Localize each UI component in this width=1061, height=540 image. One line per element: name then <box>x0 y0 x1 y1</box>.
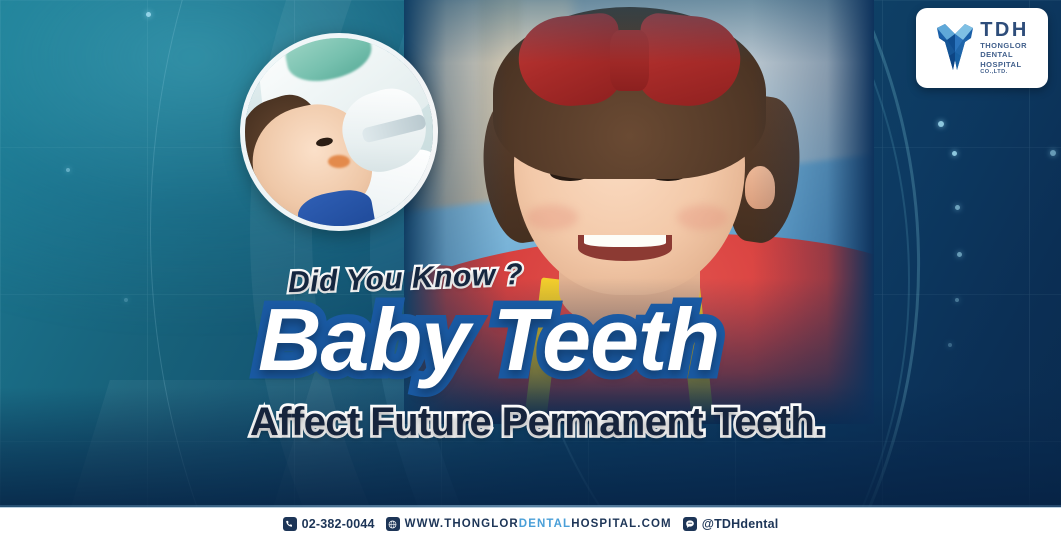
website-url: WWW.THONGLORDENTALHOSPITAL.COM <box>405 518 672 530</box>
background-dot <box>938 121 944 127</box>
footer-phone[interactable]: 02-382-0044 <box>283 517 375 531</box>
baby-dental-exam-photo <box>240 33 438 231</box>
footer-line-id[interactable]: @TDHdental <box>683 517 779 531</box>
poster-canvas: Did You Know ? Baby Teeth Affect Future … <box>0 0 1061 540</box>
logo-line-hospital: HOSPITAL <box>980 61 1029 69</box>
page-title: Baby Teeth <box>258 294 719 386</box>
background-dot <box>146 12 151 17</box>
line-id-label: @TDHdental <box>702 517 779 531</box>
background-dot <box>948 343 952 347</box>
background-dot <box>955 205 960 210</box>
line-chat-icon <box>683 517 697 531</box>
website-prefix: WWW.THONGLOR <box>405 518 519 530</box>
inset-baby-mouth <box>328 155 351 168</box>
globe-icon <box>386 517 400 531</box>
tdh-logo[interactable]: TDH THONGLOR DENTAL HOSPITAL CO.,LTD. <box>916 8 1048 88</box>
logo-line-coltd: CO.,LTD. <box>980 70 1029 76</box>
website-suffix: HOSPITAL.COM <box>571 518 672 530</box>
logo-text: TDH THONGLOR DENTAL HOSPITAL CO.,LTD. <box>980 20 1029 76</box>
subtitle-text: Affect Future Permanent Teeth. <box>250 400 825 445</box>
phone-number: 02-382-0044 <box>302 517 375 531</box>
logo-line-thonglor: THONGLOR <box>980 42 1029 50</box>
background-dot <box>66 168 70 172</box>
background-dot <box>957 252 962 257</box>
logo-line-dental: DENTAL <box>980 51 1029 59</box>
contact-footer: 02-382-0044 WWW.THONGLORDENTALHOSPITAL.C… <box>0 507 1061 540</box>
tooth-icon <box>935 22 975 74</box>
logo-initials: TDH <box>980 20 1029 40</box>
background-dot <box>1050 150 1056 156</box>
background-dot <box>955 298 959 302</box>
phone-icon <box>283 517 297 531</box>
headline-block: Did You Know ? Baby Teeth Affect Future … <box>0 262 830 445</box>
website-highlight: DENTAL <box>519 518 571 530</box>
background-dot <box>952 151 957 156</box>
footer-website[interactable]: WWW.THONGLORDENTALHOSPITAL.COM <box>386 517 672 531</box>
